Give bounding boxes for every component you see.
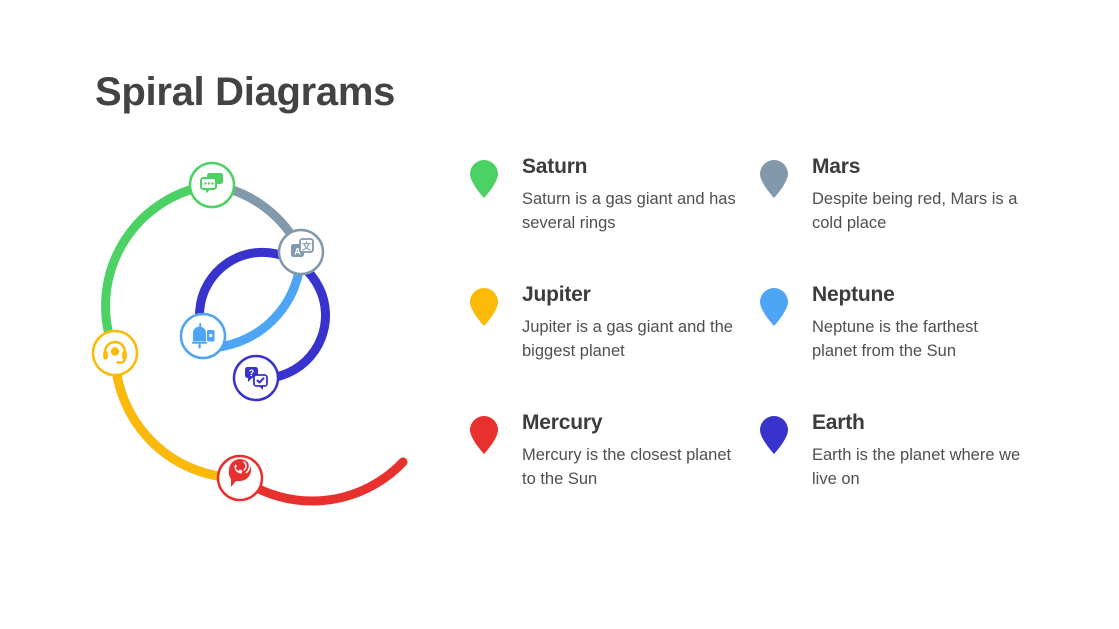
spiral-arm-jupiter bbox=[115, 353, 240, 478]
legend-title-earth: Earth bbox=[812, 411, 1046, 434]
legend-title-saturn: Saturn bbox=[522, 155, 756, 178]
slide-canvas: Spiral Diagrams bbox=[0, 0, 1119, 629]
legend-title-mercury: Mercury bbox=[522, 411, 756, 434]
legend-item-mercury[interactable]: Mercury Mercury is the closest planet to… bbox=[466, 411, 756, 539]
legend-item-jupiter[interactable]: Jupiter Jupiter is a gas giant and the b… bbox=[466, 283, 756, 411]
legend-desc-saturn: Saturn is a gas giant and has several ri… bbox=[522, 188, 737, 235]
pin-marker-saturn bbox=[466, 157, 502, 193]
legend-desc-neptune: Neptune is the farthest planet from the … bbox=[812, 316, 1027, 363]
spiral-node-jupiter[interactable] bbox=[93, 331, 137, 375]
pin-marker-mars bbox=[756, 157, 792, 193]
legend-desc-mars: Despite being red, Mars is a cold place bbox=[812, 188, 1027, 235]
pin-marker-mercury bbox=[466, 413, 502, 449]
spiral-svg: A 文 bbox=[60, 140, 440, 540]
legend-grid: Saturn Saturn is a gas giant and has sev… bbox=[466, 155, 1066, 539]
pin-marker-neptune bbox=[756, 285, 792, 321]
spiral-node-mercury[interactable] bbox=[218, 456, 262, 500]
pin-marker-jupiter bbox=[466, 285, 502, 321]
spiral-diagram: A 文 bbox=[60, 140, 440, 540]
spiral-node-saturn[interactable] bbox=[190, 163, 234, 207]
legend-desc-mercury: Mercury is the closest planet to the Sun bbox=[522, 444, 737, 491]
legend-item-neptune[interactable]: Neptune Neptune is the farthest planet f… bbox=[756, 283, 1046, 411]
spiral-node-earth[interactable]: ? bbox=[234, 356, 278, 400]
legend-item-earth[interactable]: Earth Earth is the planet where we live … bbox=[756, 411, 1046, 539]
legend-item-saturn[interactable]: Saturn Saturn is a gas giant and has sev… bbox=[466, 155, 756, 283]
spiral-node-neptune[interactable] bbox=[181, 314, 225, 358]
svg-text:文: 文 bbox=[301, 241, 312, 252]
page-title: Spiral Diagrams bbox=[95, 70, 395, 114]
spiral-node-mars[interactable]: A 文 bbox=[279, 230, 323, 274]
legend-title-neptune: Neptune bbox=[812, 283, 1046, 306]
pin-marker-earth bbox=[756, 413, 792, 449]
legend-title-jupiter: Jupiter bbox=[522, 283, 756, 306]
legend-desc-earth: Earth is the planet where we live on bbox=[812, 444, 1027, 491]
legend-desc-jupiter: Jupiter is a gas giant and the biggest p… bbox=[522, 316, 737, 363]
legend-title-mars: Mars bbox=[812, 155, 1046, 178]
legend-item-mars[interactable]: Mars Despite being red, Mars is a cold p… bbox=[756, 155, 1046, 283]
